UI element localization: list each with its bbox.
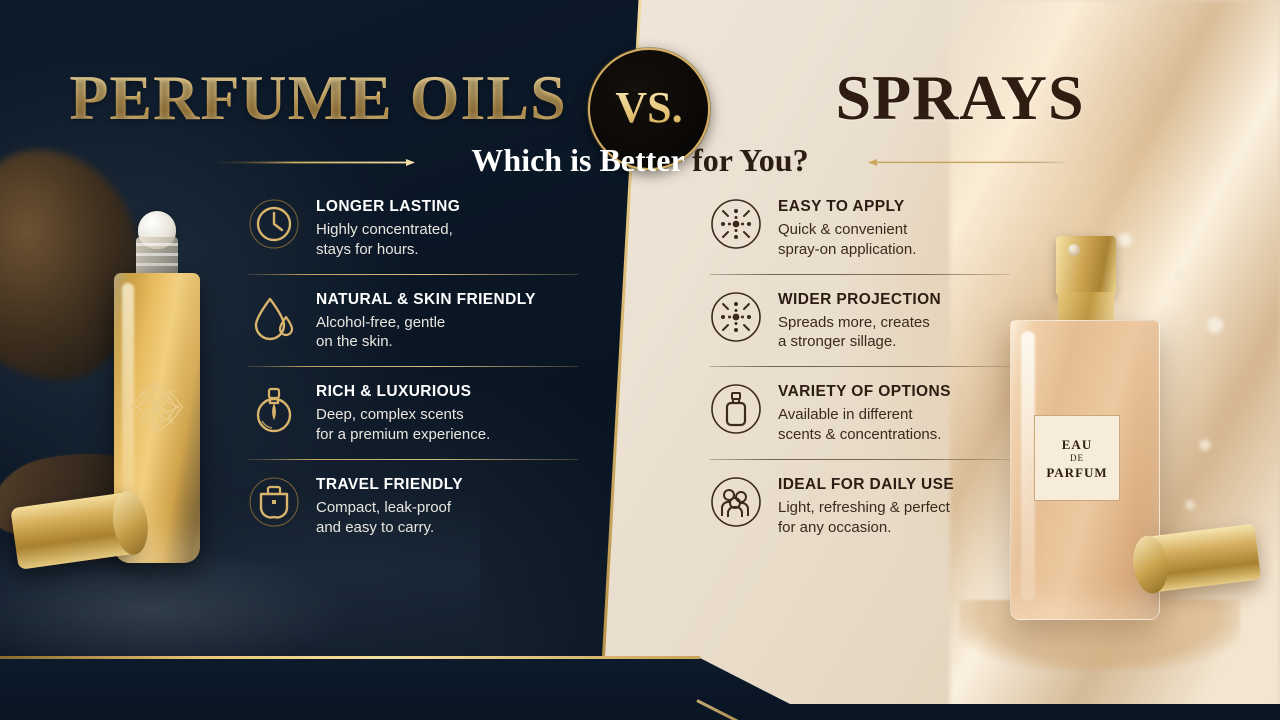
feature-text: WIDER PROJECTION Spreads more, creates a… [778,289,941,353]
infographic-canvas: EAU DE PARFUM PERFUME OILS VS. SPRAYS [0,0,1280,720]
feature-desc-line-1: Available in different [778,405,951,425]
feature-title: TRAVEL FRIENDLY [316,476,463,494]
feature-title: NATURAL & SKIN FRIENDLY [316,291,536,309]
label-line-2: DE [1070,454,1084,463]
feature-divider [710,459,1010,460]
feature-desc-line-2: a stronger sillage. [778,332,941,352]
feature-title: IDEAL FOR DAILY USE [778,476,954,494]
feature-list-oils: LONGER LASTING Highly concentrated, stay… [248,196,578,538]
arrow-left-decoration [218,158,423,167]
headline: PERFUME OILS VS. SPRAYS [0,30,1280,140]
feature-desc-line-1: Alcohol-free, gentle [316,313,536,333]
feature-desc-line-1: Light, refreshing & perfect [778,498,954,518]
bottom-bar-left [0,658,700,720]
feature-desc-line-2: on the skin. [316,332,536,352]
label-line-3: PARFUM [1046,466,1107,479]
feature-title: WIDER PROJECTION [778,291,941,309]
subtitle-row: Which is Better for You? [0,140,1280,186]
feature-divider [248,459,578,460]
feature-title: RICH & LUXURIOUS [316,383,490,401]
feature-desc-line-2: stays for hours. [316,240,460,260]
spray-perfume-bottle: EAU DE PARFUM [1000,200,1200,630]
feature-desc-line-1: Deep, complex scents [316,405,490,425]
bottom-bar-gold-edge [0,656,700,659]
arrow-right-decoration [860,158,1065,167]
feature-title: VARIETY OF OPTIONS [778,383,951,401]
feature-desc-line-2: scents & concentrations. [778,425,951,445]
travel-bag-icon [248,476,300,528]
bottle-label: EAU DE PARFUM [1034,415,1120,501]
feature-desc-line-2: spray-on application. [778,240,916,260]
feature-desc-line-2: for any occasion. [778,518,954,538]
feature-item[interactable]: LONGER LASTING Highly concentrated, stay… [248,196,578,260]
feature-item[interactable]: EASY TO APPLY Quick & convenient spray-o… [710,196,1010,260]
vs-label: VS. [615,82,682,137]
feature-item[interactable]: TRAVEL FRIENDLY Compact, leak-proof and … [248,474,578,538]
feature-item[interactable]: VARIETY OF OPTIONS Available in differen… [710,381,1010,445]
mandala-emblem [130,380,184,434]
feature-text: LONGER LASTING Highly concentrated, stay… [316,196,460,260]
feature-item[interactable]: NATURAL & SKIN FRIENDLY Alcohol-free, ge… [248,289,578,353]
feature-divider [248,366,578,367]
subtitle-part-2: for You? [684,142,808,178]
atomizer-top [1056,236,1116,296]
feature-title: LONGER LASTING [316,198,460,216]
feature-text: NATURAL & SKIN FRIENDLY Alcohol-free, ge… [316,289,536,353]
feature-desc-line-2: for a premium experience. [316,425,490,445]
feature-item[interactable]: IDEAL FOR DAILY USE Light, refreshing & … [710,474,1010,538]
subtitle: Which is Better for You? [430,140,850,180]
bottle-icon [710,383,762,435]
feature-item[interactable]: WIDER PROJECTION Spreads more, creates a… [710,289,1010,353]
feature-title: EASY TO APPLY [778,198,916,216]
feature-desc-line-1: Spreads more, creates [778,313,941,333]
feature-text: IDEAL FOR DAILY USE Light, refreshing & … [778,474,954,538]
page-title-left: PERFUME OILS [58,66,578,130]
feature-desc-line-1: Compact, leak-proof [316,498,463,518]
people-group-icon [710,476,762,528]
feature-desc-line-1: Highly concentrated, [316,220,460,240]
feature-divider [710,274,1010,275]
feature-text: EASY TO APPLY Quick & convenient spray-o… [778,196,916,260]
feature-text: TRAVEL FRIENDLY Compact, leak-proof and … [316,474,463,538]
feature-text: RICH & LUXURIOUS Deep, complex scents fo… [316,381,490,445]
feature-list-sprays: EASY TO APPLY Quick & convenient spray-o… [710,196,1010,538]
spray-burst-icon [710,198,762,250]
feature-divider [248,274,578,275]
perfume-flask-icon [248,383,300,435]
feature-divider [710,366,1010,367]
feature-text: VARIETY OF OPTIONS Available in differen… [778,381,951,445]
feature-desc-line-1: Quick & convenient [778,220,916,240]
page-title-right: SPRAYS [770,66,1150,130]
clock-icon [248,198,300,250]
roll-on-oil-bottle [92,195,222,595]
spray-burst-icon [710,291,762,343]
feature-desc-line-2: and easy to carry. [316,518,463,538]
droplet-icon [248,291,300,343]
label-line-1: EAU [1062,438,1092,451]
subtitle-part-1: Which is Better [471,142,684,178]
feature-item[interactable]: RICH & LUXURIOUS Deep, complex scents fo… [248,381,578,445]
